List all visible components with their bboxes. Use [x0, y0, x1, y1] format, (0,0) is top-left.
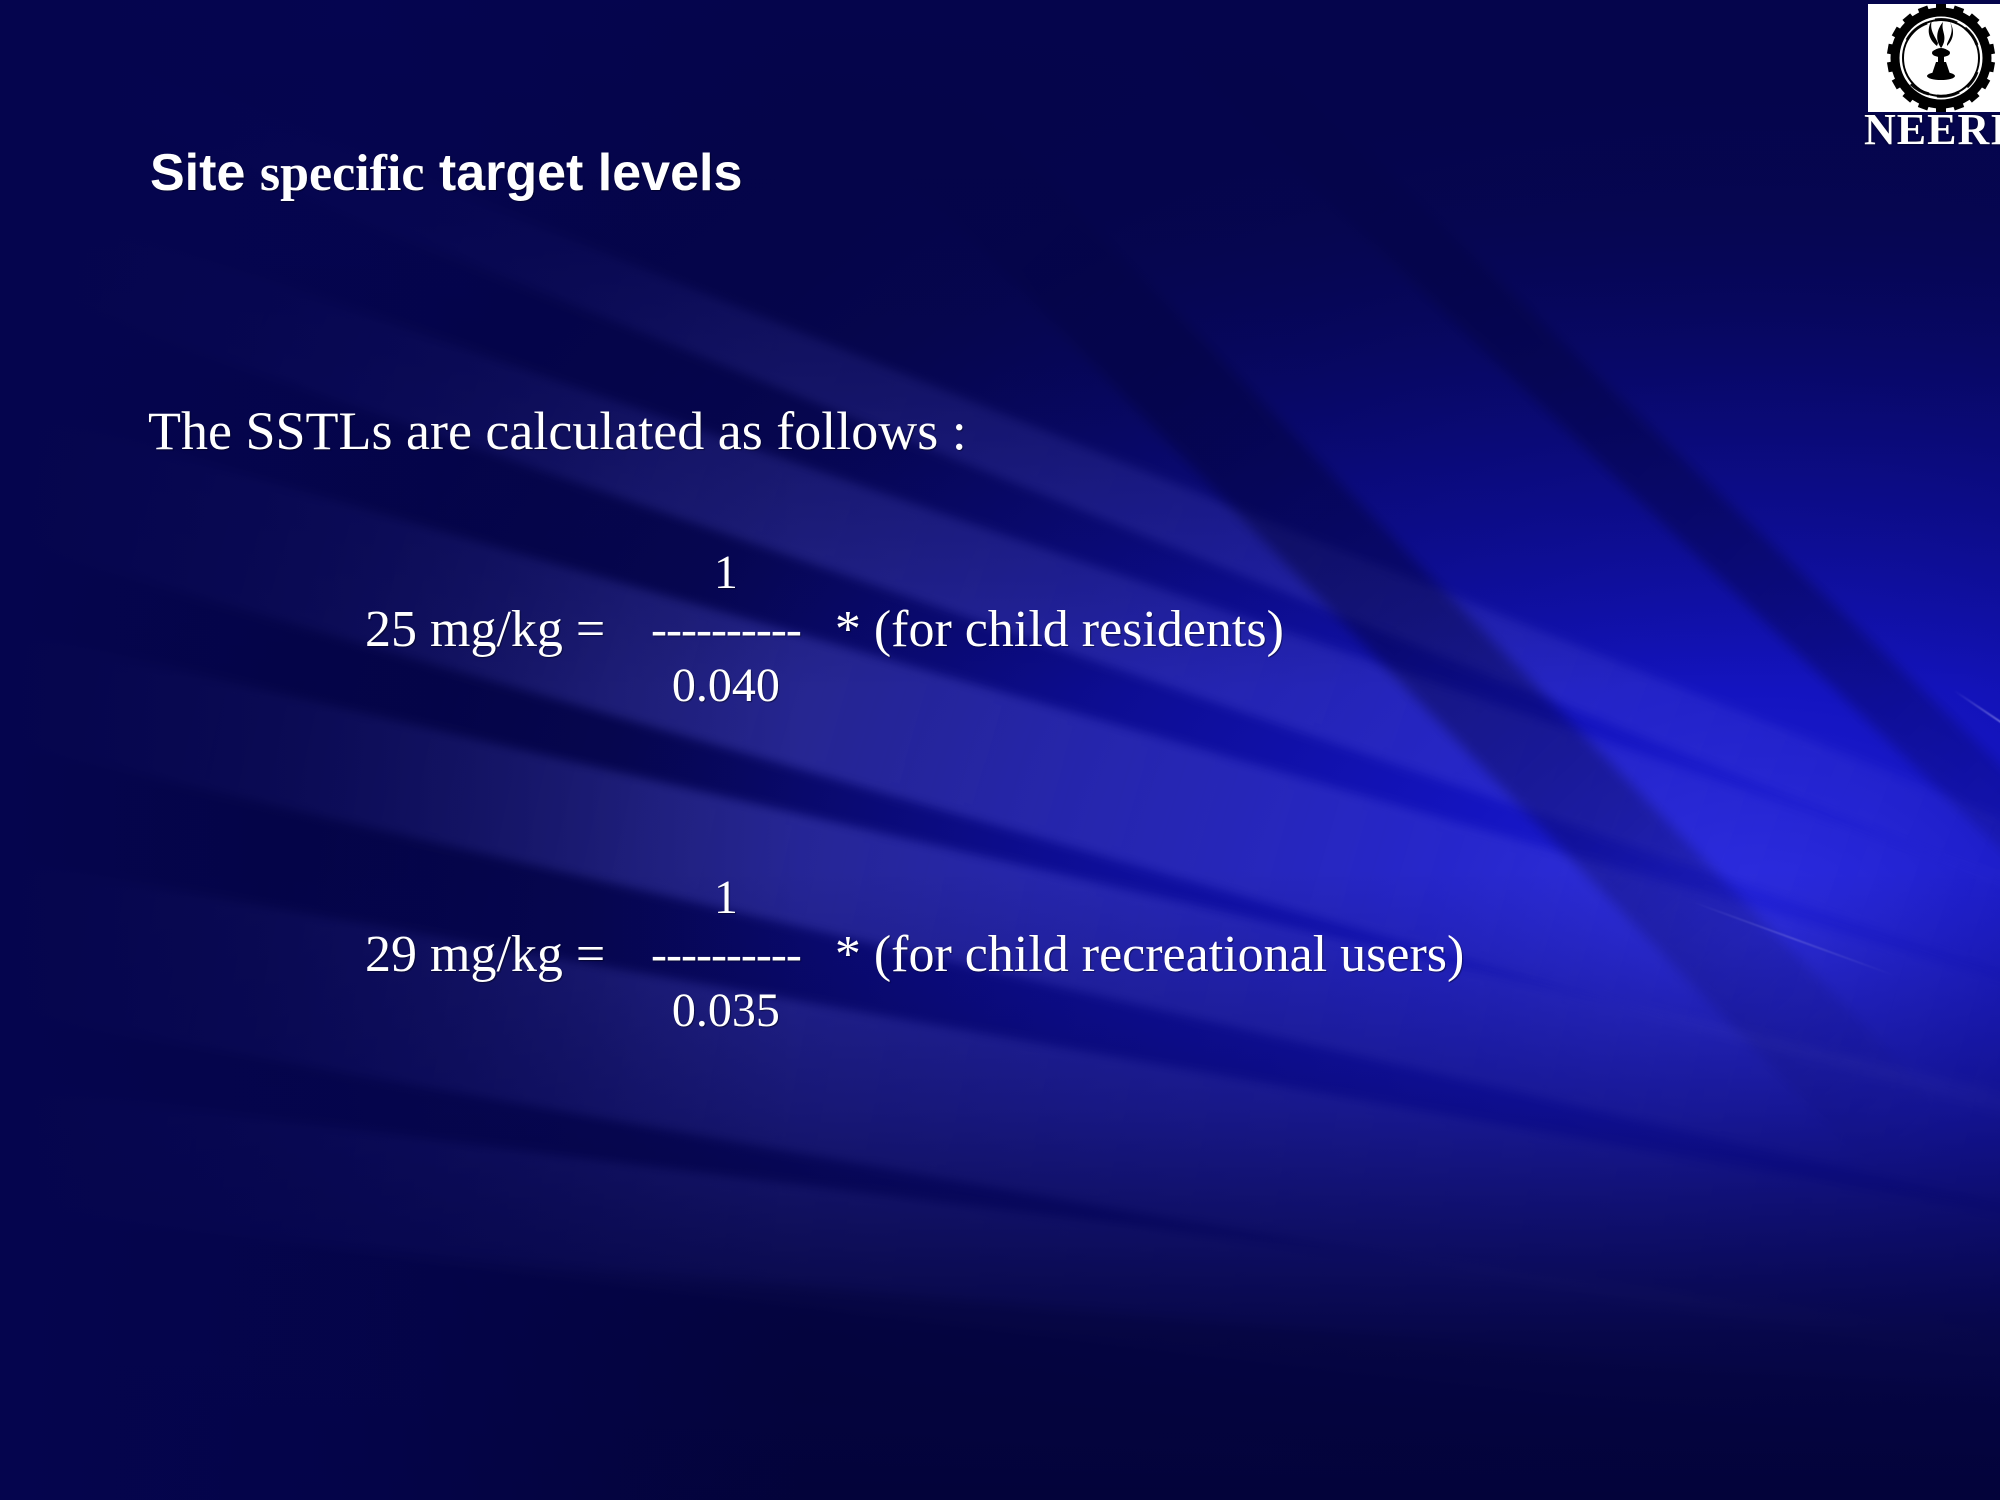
formula-2-left-side: 29 mg/kg = [365, 925, 627, 984]
formula-1-note: * (for child residents) [835, 600, 1284, 659]
page-title-part-3: target levels [424, 144, 742, 202]
formula-2-note: * (for child recreational users) [835, 925, 1464, 984]
formula-1-numerator: 1 [714, 545, 738, 602]
formula-2-denominator: 0.035 [672, 983, 780, 1040]
formula-2-fraction-bar: ---------- [651, 927, 801, 984]
formula-1-left-side: 25 mg/kg = [365, 600, 627, 659]
formula-2-numerator: 1 [714, 870, 738, 927]
neeri-wordmark: NEERI [1864, 104, 2000, 155]
formula-1-denominator: 0.040 [672, 658, 780, 715]
page-title-part-2: specific [260, 145, 425, 202]
background-left-vignette [0, 0, 800, 1500]
formula-row-2: 29 mg/kg = 1 ---------- 0.035 * (for chi… [365, 870, 1464, 1040]
neeri-logo: NEERI [1850, 0, 2000, 160]
csir-emblem-icon [1868, 4, 2000, 112]
formula-2-fraction: 1 ---------- 0.035 [651, 870, 801, 1040]
formula-row-1: 25 mg/kg = 1 ---------- 0.040 * (for chi… [365, 545, 1284, 715]
formula-1-fraction-bar: ---------- [651, 602, 801, 659]
presentation-slide: NEERI Site specific target levels The SS… [0, 0, 2000, 1500]
page-title: Site specific target levels [150, 146, 742, 202]
formula-1-fraction: 1 ---------- 0.040 [651, 545, 801, 715]
intro-text: The SSTLs are calculated as follows : [148, 400, 967, 462]
page-title-part-1: Site [150, 144, 260, 202]
